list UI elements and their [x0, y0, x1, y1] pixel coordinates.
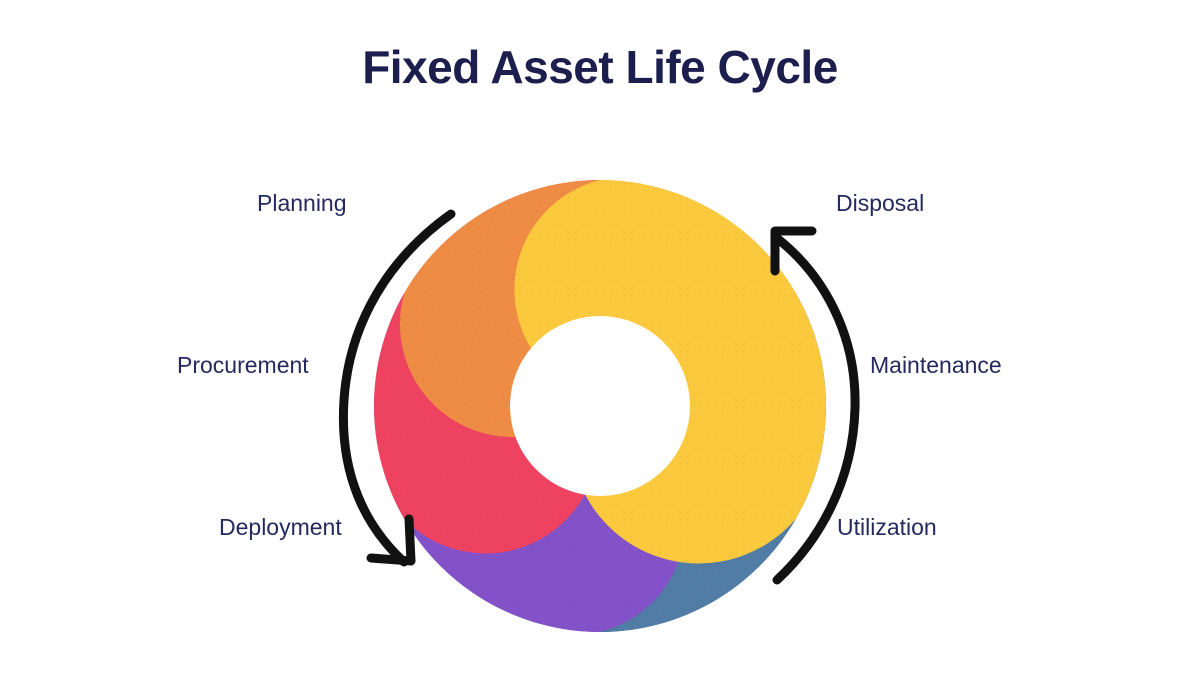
stage-label-utilization: Utilization: [837, 514, 937, 541]
stage-label-procurement: Procurement: [177, 352, 309, 379]
cycle-wheel-graphic: [0, 0, 1200, 700]
stage-label-deployment: Deployment: [219, 514, 342, 541]
stage-label-planning: Planning: [257, 190, 347, 217]
stage-label-maintenance: Maintenance: [870, 352, 1002, 379]
wheel-hub: [510, 316, 690, 496]
stage-label-disposal: Disposal: [836, 190, 924, 217]
infographic-canvas: Fixed Asset Life Cycle: [0, 0, 1200, 700]
